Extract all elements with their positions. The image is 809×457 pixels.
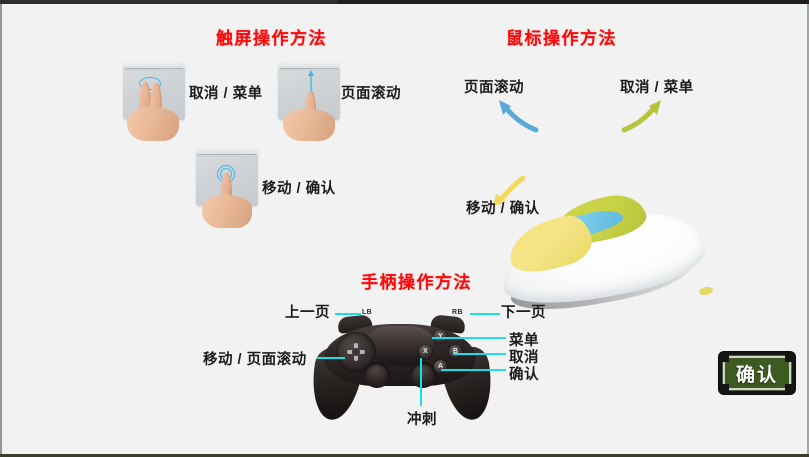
gamepad-left-stick <box>364 362 390 388</box>
touchpad-two-finger-tap-icon <box>123 62 185 120</box>
touchpad-one-finger-swipe-icon <box>278 62 340 120</box>
screen-edge-left <box>0 4 2 454</box>
mouse-right-button-arrow-icon <box>620 96 670 136</box>
confirm-button-label: 确认 <box>736 360 778 387</box>
mouse-scroll-arrow-icon <box>492 96 542 136</box>
mouse-section-title: 鼠标操作方法 <box>506 24 617 49</box>
confirm-button[interactable]: 确认 <box>719 352 795 394</box>
gamepad-leader-line-dpad <box>317 357 345 359</box>
gamepad-right-stick <box>410 362 436 388</box>
gamepad-leader-line-b <box>453 353 506 355</box>
gamepad-button-a: A <box>434 360 447 373</box>
gamepad-button-label-lb: LB <box>362 309 372 316</box>
gamepad-leader-line-x <box>420 358 422 406</box>
gamepad-leader-line-y <box>432 337 506 339</box>
gamepad-button-b: B <box>449 345 462 358</box>
gamepad-leader-line-a <box>441 369 506 371</box>
gamepad-button-x: X <box>419 345 432 358</box>
swipe-arrow-icon <box>278 62 340 120</box>
gamepad-illustration: Y X B A <box>298 310 503 418</box>
touchscreen-item-label-1: 取消 / 菜单 <box>189 82 263 103</box>
gamepad-dpad <box>346 342 366 362</box>
gamepad-item-label-next-page: 下一页 <box>501 301 546 322</box>
controls-help-screen: 触屏操作方法 取消 / 菜单 页面滚动 <box>0 0 809 457</box>
gamepad-item-label-prev-page: 上一页 <box>285 301 330 322</box>
gamepad-section-title: 手柄操作方法 <box>361 268 472 293</box>
gamepad-leader-line-lb <box>335 313 361 315</box>
mouse-item-label-cancel: 取消 / 菜单 <box>620 76 694 97</box>
gamepad-item-label-sprint: 冲刺 <box>407 408 437 429</box>
gamepad-item-label-move-scroll: 移动 / 页面滚动 <box>203 348 307 369</box>
gamepad-button-label-rb: RB <box>452 309 463 316</box>
touchpad-one-finger-tap-icon <box>196 148 258 206</box>
touchscreen-item-label-2: 页面滚动 <box>341 82 401 103</box>
mouse-item-label-scroll: 页面滚动 <box>464 76 524 97</box>
touchscreen-item-label-3: 移动 / 确认 <box>262 177 336 198</box>
letterbox-bar-top-left <box>0 0 338 4</box>
gamepad-leader-line-rb <box>470 313 500 315</box>
touchscreen-section-title: 触屏操作方法 <box>216 24 327 49</box>
gamepad-item-label-confirm: 确认 <box>509 363 539 384</box>
mouse-item-label-confirm: 移动 / 确认 <box>466 197 540 218</box>
